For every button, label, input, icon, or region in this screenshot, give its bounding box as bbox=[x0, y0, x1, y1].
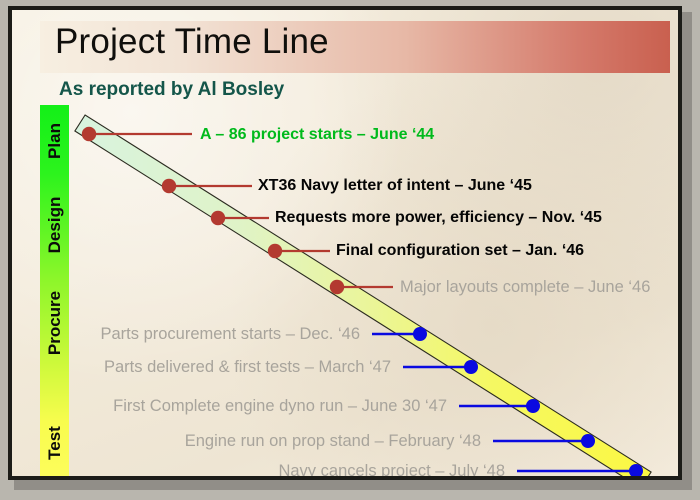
timeline-bar-shape bbox=[75, 115, 651, 480]
milestone-dot-m10[interactable] bbox=[629, 464, 643, 478]
phase-label-procure: Procure bbox=[45, 291, 65, 355]
phase-label-plan: Plan bbox=[45, 123, 65, 159]
milestone-dot-m8[interactable] bbox=[526, 399, 540, 413]
milestone-dot-m9[interactable] bbox=[581, 434, 595, 448]
milestone-dot-m5[interactable] bbox=[330, 280, 344, 294]
milestone-label-m4: Final configuration set – Jan. ‘46 bbox=[336, 242, 584, 260]
milestone-label-m9: Engine run on prop stand – February ‘48 bbox=[185, 432, 481, 451]
timeline-bar bbox=[75, 115, 651, 480]
page-title: Project Time Line bbox=[55, 22, 329, 62]
milestone-dot-m4[interactable] bbox=[268, 244, 282, 258]
page-subtitle: As reported by Al Bosley bbox=[59, 79, 284, 101]
milestone-dot-m1[interactable] bbox=[82, 127, 96, 141]
milestone-label-m6: Parts procurement starts – Dec. ‘46 bbox=[100, 325, 360, 344]
slide-canvas: Project Time Line As reported by Al Bosl… bbox=[8, 6, 682, 480]
milestone-dot-m3[interactable] bbox=[211, 211, 225, 225]
milestone-label-m1: A – 86 project starts – June ‘44 bbox=[200, 126, 434, 144]
milestone-label-m3: Requests more power, efficiency – Nov. ‘… bbox=[275, 209, 602, 227]
milestone-dot-m6[interactable] bbox=[413, 327, 427, 341]
milestone-label-m8: First Complete engine dyno run – June 30… bbox=[113, 397, 447, 416]
phase-label-design: Design bbox=[45, 197, 65, 254]
milestone-label-m7: Parts delivered & first tests – March ‘4… bbox=[104, 358, 391, 377]
slide-content: Project Time Line As reported by Al Bosl… bbox=[12, 10, 678, 476]
milestone-label-m2: XT36 Navy letter of intent – June ‘45 bbox=[258, 177, 532, 195]
milestone-dot-m2[interactable] bbox=[162, 179, 176, 193]
phase-label-test: Test bbox=[45, 426, 65, 460]
phase-gradient-bar: Plan Design Procure Test bbox=[40, 105, 69, 480]
milestone-dot-m7[interactable] bbox=[464, 360, 478, 374]
milestone-label-m5: Major layouts complete – June ‘46 bbox=[400, 278, 650, 297]
milestone-label-m10: Navy cancels project – July ‘48 bbox=[278, 462, 505, 480]
